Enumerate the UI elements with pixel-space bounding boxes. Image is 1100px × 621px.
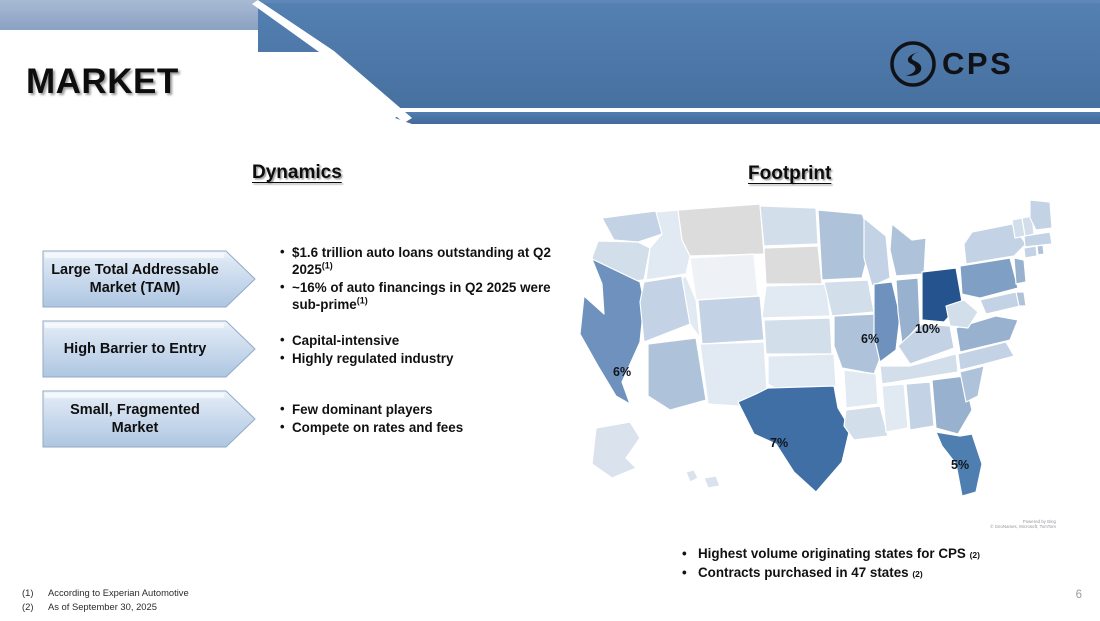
state-OK — [768, 354, 836, 390]
state-ND — [760, 206, 818, 246]
state-ME — [1030, 200, 1052, 230]
chevron-label: High Barrier to Entry — [50, 320, 220, 378]
bullet-item: Highly regulated industry — [280, 350, 564, 367]
bullet-item: $1.6 trillion auto loans outstanding at … — [280, 244, 564, 278]
slide-market: CPS MARKET Dynamics Footprint Large Tota… — [0, 0, 1100, 621]
state-MS — [882, 384, 908, 432]
bullet-item: Compete on rates and fees — [280, 419, 564, 436]
cps-logo: CPS — [888, 36, 1028, 92]
state-AL — [906, 382, 934, 430]
bullet-item: ~16% of auto financings in Q2 2025 were … — [280, 279, 564, 313]
map-label-illinois: 6% — [861, 332, 879, 346]
state-AR — [844, 370, 878, 408]
bullet-group-tam: $1.6 trillion auto loans outstanding at … — [280, 244, 564, 315]
state-CT — [1024, 246, 1037, 258]
bullet-text: Highly regulated industry — [292, 351, 453, 366]
state-WY — [690, 254, 758, 300]
bullet-text: Compete on rates and fees — [292, 420, 463, 435]
state-AZ — [648, 338, 706, 410]
state-TX — [738, 386, 850, 492]
footnote-row: (1) According to Experian Automotive — [22, 586, 189, 600]
footprint-notes: Highest volume originating states for CP… — [680, 544, 1010, 582]
map-label-ohio: 10% — [915, 322, 940, 336]
us-choropleth-map: 6% 7% 6% 10% 5% Powered by Bing © GeoNam… — [578, 196, 1064, 526]
footnotes: (1) According to Experian Automotive (2)… — [22, 586, 189, 613]
footnote-text: According to Experian Automotive — [48, 586, 189, 600]
bullet-group-barrier: Capital-intensive Highly regulated indus… — [280, 332, 564, 368]
chevron-large-tam[interactable]: Large Total Addressable Market (TAM) — [42, 250, 257, 308]
cps-circle-swoosh-icon — [888, 39, 938, 89]
state-NE — [762, 284, 830, 318]
logo-wordmark: CPS — [942, 48, 1013, 81]
state-NJ — [1014, 258, 1026, 284]
footprint-note-ref: (2) — [970, 550, 980, 560]
bullet-text: ~16% of auto financings in Q2 2025 were … — [292, 280, 551, 312]
footnote-text: As of September 30, 2025 — [48, 600, 157, 614]
banner-white-edge-lower — [400, 108, 1100, 112]
footnote-marker: (2) — [22, 600, 48, 614]
footnote-marker: (1) — [22, 586, 48, 600]
map-label-california: 6% — [613, 365, 631, 379]
chevron-high-barrier[interactable]: High Barrier to Entry — [42, 320, 257, 378]
banner-offset-bar — [395, 112, 1100, 124]
state-AK — [592, 422, 640, 478]
state-CO — [698, 296, 764, 344]
bullet-superscript: (1) — [322, 261, 333, 271]
state-CA — [580, 259, 644, 404]
state-MT — [678, 204, 764, 256]
state-WI — [864, 218, 890, 286]
footprint-note-item: Contracts purchased in 47 states (2) — [680, 563, 1010, 582]
bullet-item: Few dominant players — [280, 401, 564, 418]
section-heading-footprint: Footprint — [748, 163, 831, 185]
section-heading-dynamics: Dynamics — [252, 162, 342, 184]
state-LA — [844, 406, 888, 440]
state-SD — [764, 246, 822, 284]
footprint-note-ref: (2) — [912, 569, 922, 579]
state-MI — [890, 224, 926, 276]
map-attribution-sources: © GeoNames, Microsoft, TomTom — [990, 525, 1056, 530]
map-attribution: Powered by Bing © GeoNames, Microsoft, T… — [990, 520, 1056, 530]
state-WA — [602, 211, 662, 242]
state-IL — [874, 282, 900, 362]
footnote-row: (2) As of September 30, 2025 — [22, 600, 189, 614]
state-RI — [1037, 245, 1044, 255]
chevron-label: Small, Fragmented Market — [50, 390, 220, 448]
footprint-note-text: Highest volume originating states for CP… — [698, 546, 966, 561]
map-label-texas: 7% — [770, 436, 788, 450]
chevron-small-fragmented[interactable]: Small, Fragmented Market — [42, 390, 257, 448]
bullet-text: Few dominant players — [292, 402, 433, 417]
footprint-note-item: Highest volume originating states for CP… — [680, 544, 1010, 563]
bullet-text: Capital-intensive — [292, 333, 399, 348]
bullet-superscript: (1) — [357, 296, 368, 306]
footprint-note-text: Contracts purchased in 47 states — [698, 565, 909, 580]
page-title: MARKET — [26, 62, 179, 102]
state-KS — [764, 318, 832, 354]
bullet-group-fragmented: Few dominant players Compete on rates an… — [280, 401, 564, 437]
state-NV — [640, 276, 690, 342]
banner-lower-sliver — [258, 0, 1100, 3]
state-IA — [824, 280, 874, 316]
bullet-item: Capital-intensive — [280, 332, 564, 349]
page-number: 6 — [1076, 589, 1082, 601]
map-label-florida: 5% — [951, 458, 969, 472]
state-HI — [686, 470, 720, 488]
map-states — [580, 200, 1052, 496]
chevron-label: Large Total Addressable Market (TAM) — [50, 250, 220, 308]
